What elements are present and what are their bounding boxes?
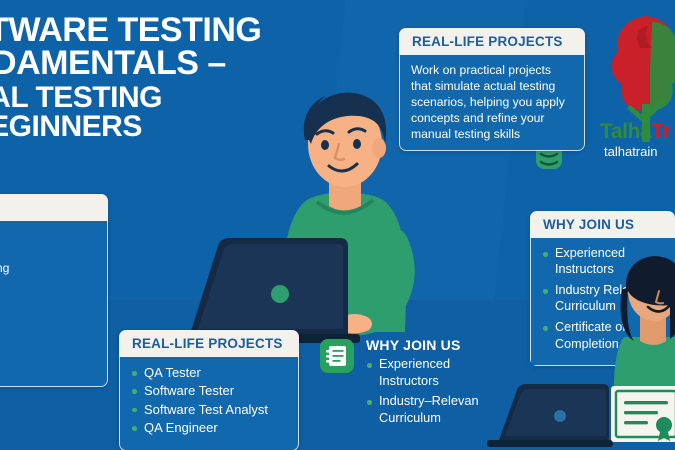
real-life-projects-top-text: Work on practical projects that simulate…: [411, 62, 573, 142]
overview-card-title: OVERVIEW: [0, 194, 108, 221]
list-item: Software Test Analyst: [131, 401, 287, 419]
logo-subtitle: talhatrain: [604, 144, 657, 159]
overview-line-5: gh hands–on: [0, 308, 96, 324]
real-life-projects-top-body: Work on practical projects that simulate…: [399, 55, 585, 151]
title-line-2: NDAMENTALS –: [0, 47, 388, 80]
real-life-projects-top-card: REAL-LIFE PROJECTS Work on practical pro…: [399, 28, 585, 151]
overview-line-6: preparing you: [0, 325, 96, 341]
why-join-us-middle-list: Experienced Instructors Industry–Relevan…: [366, 356, 495, 427]
infographic-canvas: FTWARE TESTING NDAMENTALS – UAL TESTING …: [0, 0, 675, 450]
overview-card: OVERVIEW essentials of tware testing, rs…: [0, 194, 108, 387]
why-join-us-middle-block: WHY JOIN US Experienced Instructors Indu…: [320, 337, 495, 431]
list-item: Experienced Instructors: [366, 356, 495, 389]
real-life-projects-top-title: REAL-LIFE PROJECTS: [399, 28, 585, 55]
logo-wordmark: TalhaTr: [600, 120, 670, 144]
list-item: QA Tester: [131, 364, 287, 382]
list-item: Software Tester: [131, 382, 287, 400]
overview-card-body: essentials of tware testing, rstanding t…: [0, 221, 108, 387]
job-roles-list: QA Tester Software Tester Software Test …: [131, 364, 287, 438]
real-life-projects-bottom-title: REAL-LIFE PROJECTS: [119, 330, 299, 357]
document-list-icon: [320, 339, 354, 373]
laptop-icon: [485, 378, 615, 450]
overview-line-4: practical QA: [0, 292, 96, 308]
real-life-projects-bottom-card: REAL-LIFE PROJECTS QA Tester Software Te…: [119, 330, 299, 450]
title-line-1: FTWARE TESTING: [0, 14, 388, 47]
overview-line-1: tware testing,: [0, 244, 96, 260]
real-life-projects-bottom-body: QA Tester Software Tester Software Test …: [119, 357, 299, 450]
logo-word-part2: Tr: [651, 120, 670, 143]
logo-word-part1: Talha: [600, 120, 651, 143]
overview-line-2: rstanding testing: [0, 260, 96, 276]
list-item: Industry–Relevan Curriculum: [366, 393, 495, 426]
list-item: QA Engineer: [131, 419, 287, 437]
overview-line-0: essentials of: [0, 228, 96, 244]
woman-at-laptop-illustration: [612, 245, 675, 395]
why-join-us-right-title: WHY JOIN US: [530, 211, 675, 238]
certificate-icon: [610, 385, 675, 447]
overview-line-8: ware industry.: [0, 357, 96, 373]
overview-line-3: als to reporting: [0, 276, 96, 292]
overview-line-7: evel positions: [0, 341, 96, 357]
why-join-us-middle-title: WHY JOIN US: [366, 337, 495, 353]
